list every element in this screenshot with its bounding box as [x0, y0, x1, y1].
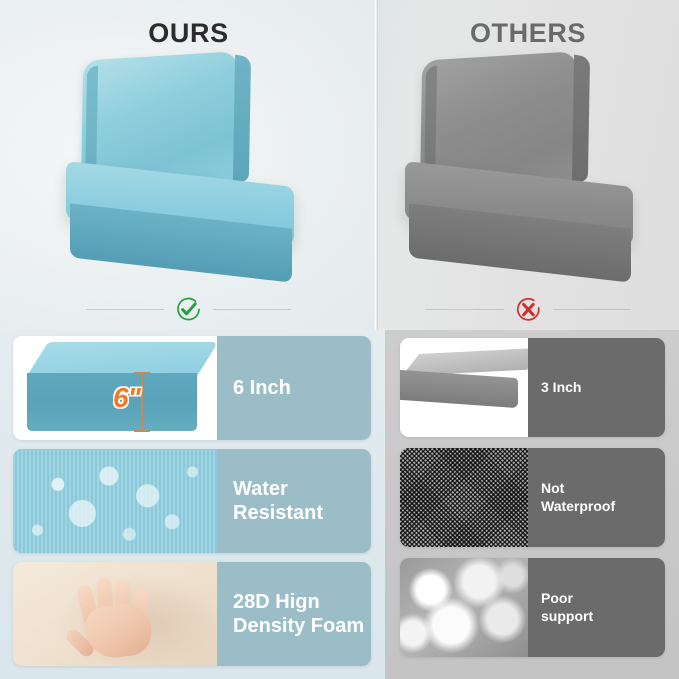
water-beading-fabric-photo [13, 449, 217, 553]
feature-label: 6 Inch [217, 336, 371, 440]
divider-line-left [86, 309, 164, 310]
column-divider [374, 0, 378, 330]
feature-card: Poor support [400, 558, 665, 657]
teal-cushion-illustration [64, 56, 314, 284]
divider-line-right [553, 309, 631, 310]
feature-card: Water Resistant [13, 449, 371, 553]
others-heading: OTHERS [377, 18, 679, 49]
grey-mesh-fabric-photo [400, 448, 528, 547]
thickness-callout: 6" [113, 382, 140, 414]
cushion-block: 6" [27, 342, 205, 432]
feature-label: Poor support [528, 558, 665, 657]
grey-cushion-thickness-photo [400, 338, 528, 437]
others-cushion-image [377, 56, 679, 286]
grey-cushion-illustration [403, 56, 653, 284]
teal-cushion-thickness-photo: 6" [13, 336, 217, 440]
divider-line-right [213, 309, 291, 310]
feature-label: Water Resistant [217, 449, 371, 553]
others-verdict-row [377, 292, 679, 326]
feature-card: 6" 6 Inch [13, 336, 371, 440]
others-hero-panel: OTHERS [377, 0, 679, 330]
ours-hero-panel: OURS [0, 0, 377, 330]
feature-card: 28D Hign Density Foam [13, 562, 371, 666]
ours-feature-list: 6" 6 Inch Water Resistant 28D Hign Dens [0, 330, 385, 679]
comparison-infographic: OURS OTHERS [0, 0, 679, 679]
ours-cushion-image [0, 56, 377, 286]
check-circle-icon [175, 296, 202, 323]
measurement-line [141, 372, 143, 432]
cushion-top-face [27, 342, 217, 376]
loose-fiber-fill-photo [400, 558, 528, 657]
x-circle-icon [515, 296, 542, 323]
feature-label: Not Waterproof [528, 448, 665, 547]
feature-card: Not Waterproof [400, 448, 665, 547]
cushion-side-face [400, 370, 518, 408]
ours-verdict-row [0, 292, 377, 326]
cushion-side-face [27, 373, 197, 431]
feature-label: 28D Hign Density Foam [217, 562, 371, 666]
ours-heading: OURS [0, 18, 377, 49]
others-feature-list: 3 Inch Not Waterproof Poor support [385, 330, 679, 679]
feature-label: 3 Inch [528, 338, 665, 437]
divider-line-left [426, 309, 504, 310]
feature-card: 3 Inch [400, 338, 665, 437]
hand-pressing-foam-photo [13, 562, 217, 666]
hand-illustration [59, 575, 163, 659]
